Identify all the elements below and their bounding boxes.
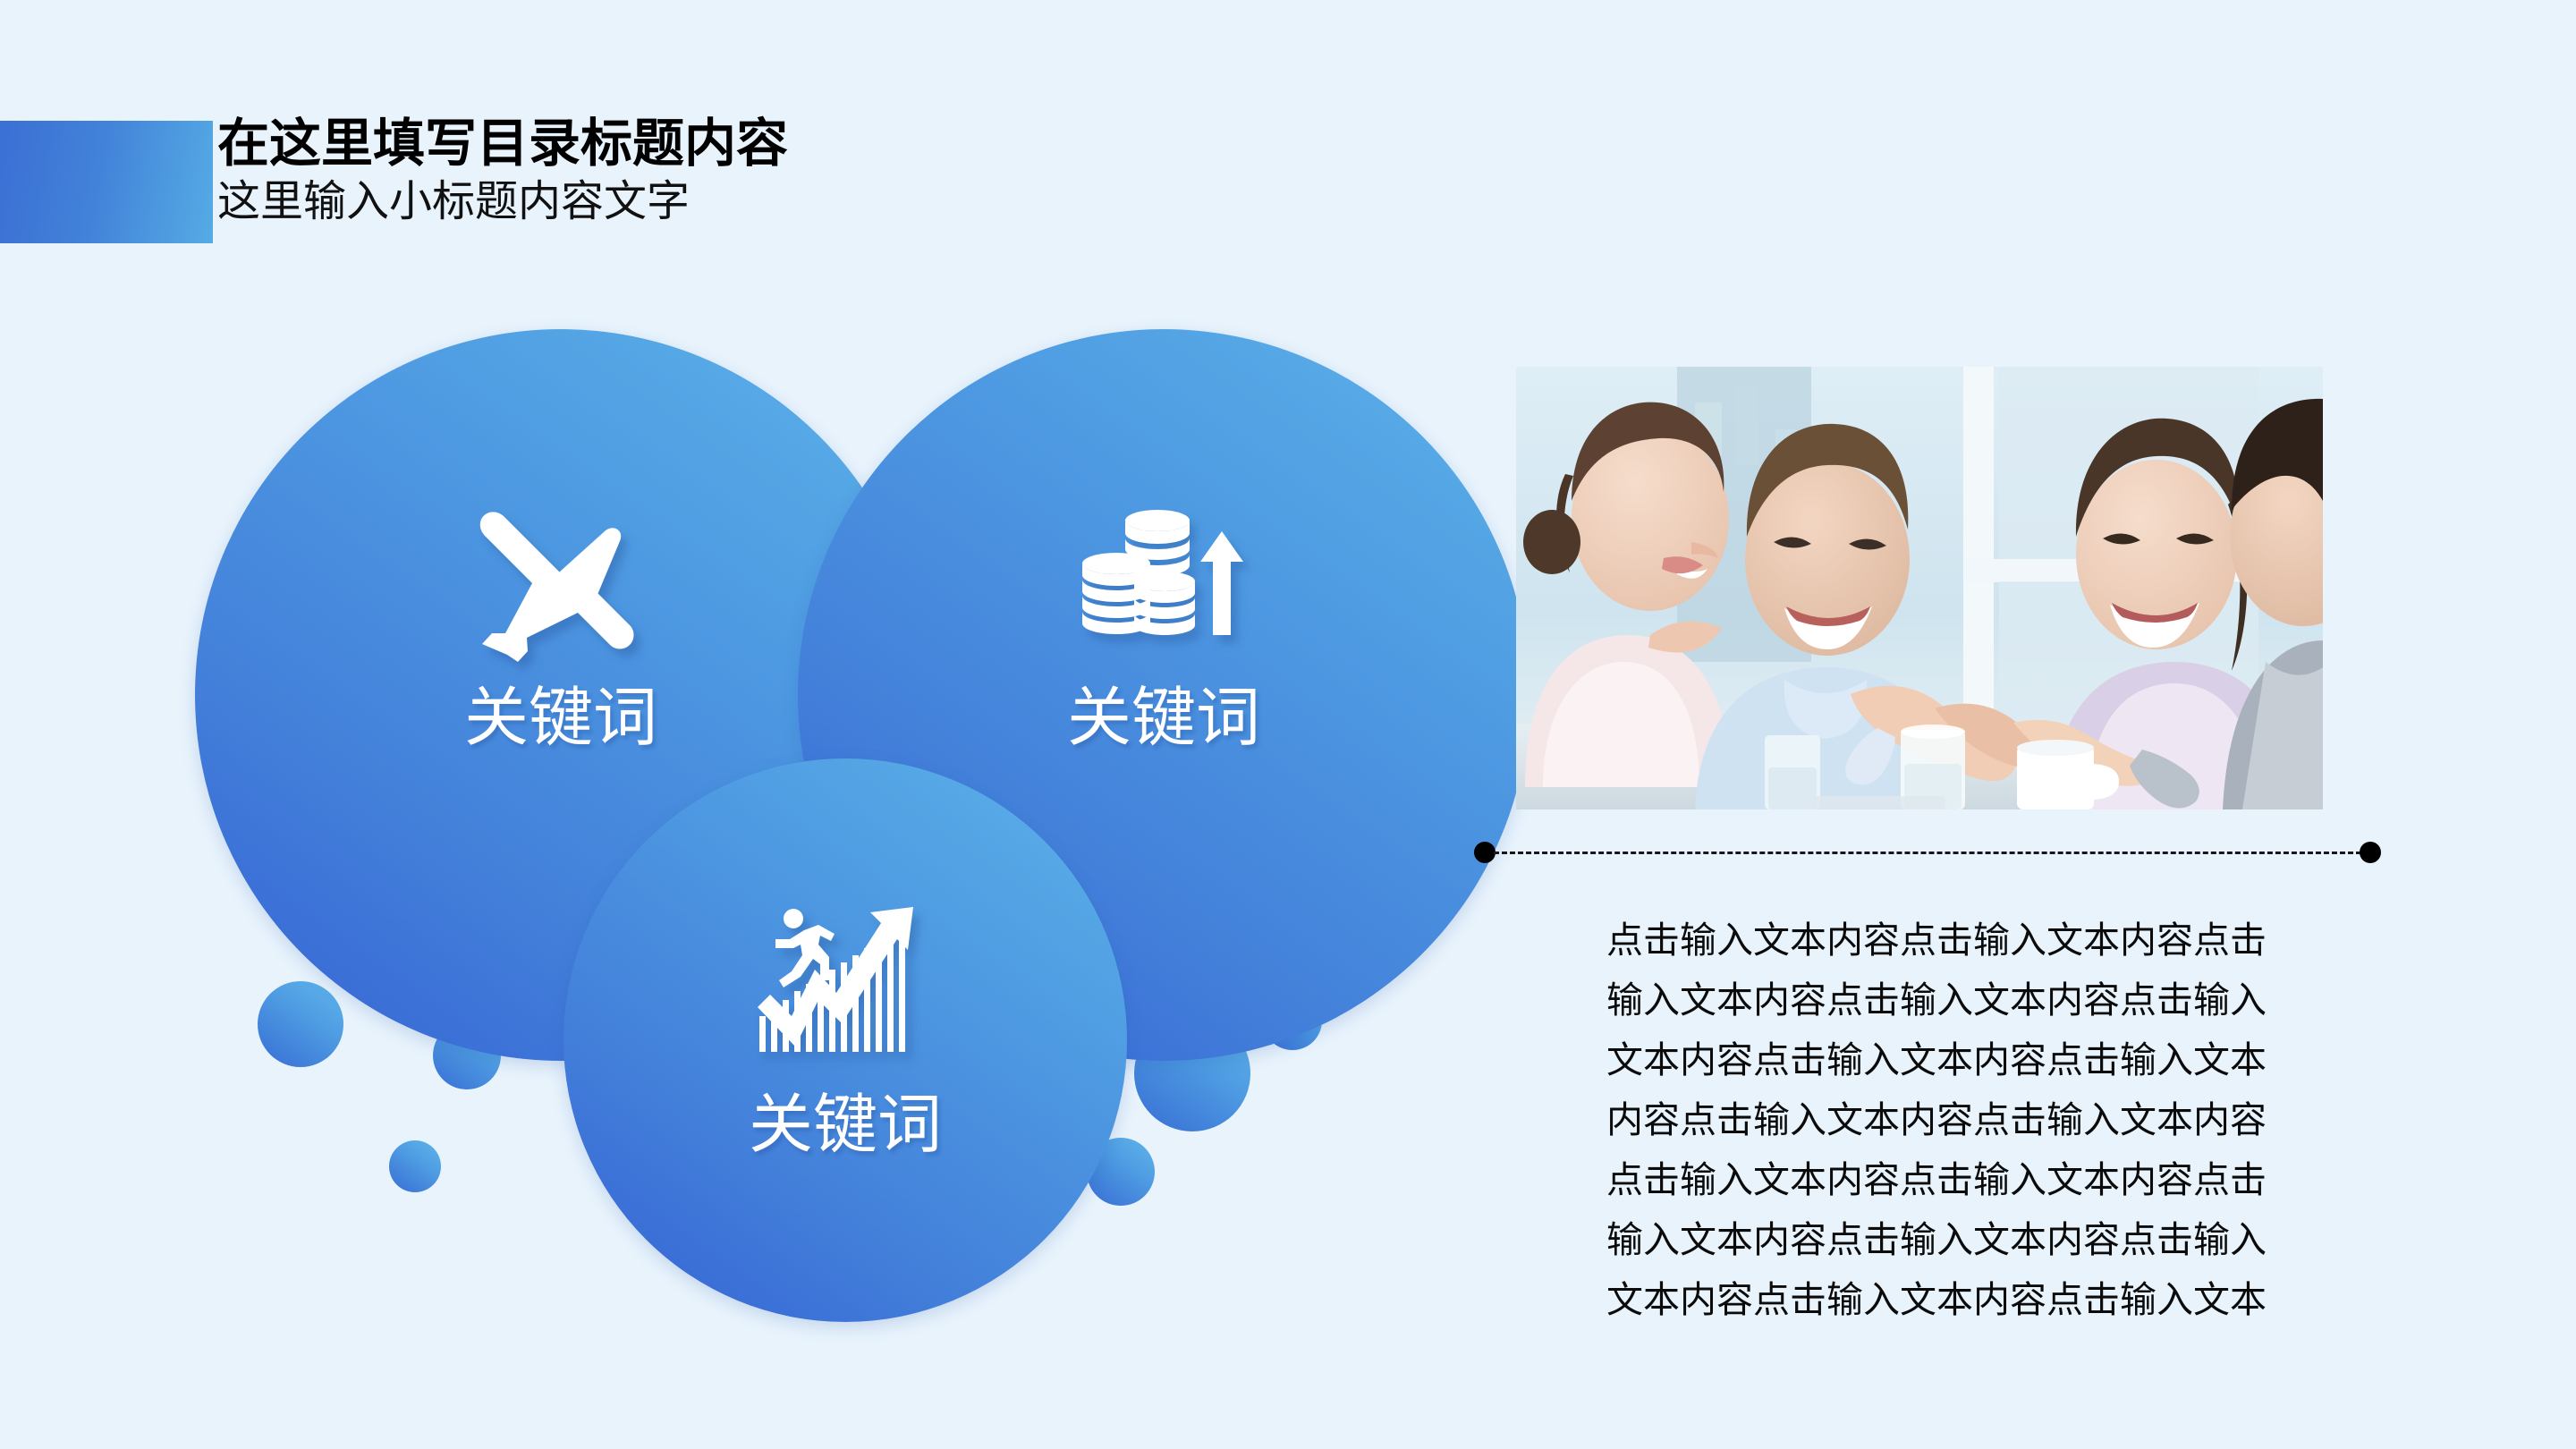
body-line: 文本内容点击输入文本内容点击输入文本 <box>1521 1270 2352 1330</box>
divider-dot-left-icon <box>1474 842 1496 863</box>
divider-dashed-line <box>1494 852 2361 854</box>
body-line: 点击输入文本内容点击输入文本内容点击 <box>1521 1150 2352 1210</box>
coin-stack-growth-icon <box>1079 508 1249 669</box>
bubble-cluster: 关键词 <box>0 0 1449 1449</box>
growth-chart-runner-icon <box>756 902 935 1076</box>
body-paragraph: 点击输入文本内容点击输入文本内容点击 输入文本内容点击输入文本内容点击输入 文本… <box>1521 911 2352 1330</box>
decorative-bubble <box>389 1140 441 1192</box>
photo-divider <box>1474 841 2381 864</box>
body-line: 文本内容点击输入文本内容点击输入文本 <box>1521 1030 2352 1090</box>
decorative-bubble <box>258 981 343 1067</box>
body-line: 内容点击输入文本内容点击输入文本内容 <box>1521 1090 2352 1150</box>
divider-dot-right-icon <box>2360 842 2381 863</box>
body-line: 输入文本内容点击输入文本内容点击输入 <box>1521 1210 2352 1270</box>
keyword-circle-label: 关键词 <box>1067 685 1260 750</box>
keyword-circle-label: 关键词 <box>749 1092 942 1157</box>
airplane-icon <box>471 508 650 669</box>
keyword-circle-growth[interactable]: 关键词 <box>563 758 1127 1322</box>
body-line: 点击输入文本内容点击输入文本内容点击 <box>1521 911 2352 970</box>
body-line: 输入文本内容点击输入文本内容点击输入 <box>1521 970 2352 1030</box>
keyword-circle-label: 关键词 <box>464 685 657 750</box>
business-meeting-photo <box>1516 367 2323 809</box>
